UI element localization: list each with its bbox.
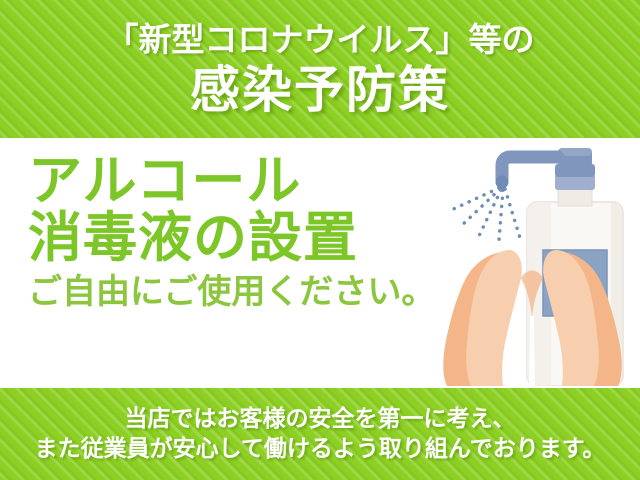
footer-band: 当店ではお客様の安全を第一に考え、 また従業員が安心して働けるよう取り組んでおり… — [0, 388, 640, 480]
sanitizer-illustration — [425, 140, 640, 386]
footer-line-2: また従業員が安心して働けるよう取り組んでおります。 — [35, 434, 606, 464]
spray-droplets-icon — [447, 188, 520, 240]
footer-line-1: 当店ではお客様の安全を第一に考え、 — [125, 404, 516, 434]
pump-nozzle-icon — [496, 157, 559, 189]
headline-block: アルコール 消毒液の設置 ご自由にご使用ください。 — [28, 152, 428, 312]
headline-line-2: 消毒液の設置 — [28, 209, 428, 266]
headline-subline: ご自由にご使用ください。 — [28, 274, 428, 311]
headline-line-1: アルコール — [28, 152, 428, 209]
content-area: アルコール 消毒液の設置 ご自由にご使用ください。 — [0, 138, 640, 388]
covid-prevention-poster: 「新型コロナウイルス」等の 感染予防策 アルコール 消毒液の設置 ご自由にご使用… — [0, 0, 640, 480]
header-line-1: 「新型コロナウイルス」等の — [106, 23, 535, 56]
header-line-2: 感染予防策 — [190, 65, 450, 115]
header-band: 「新型コロナウイルス」等の 感染予防策 — [0, 0, 640, 138]
